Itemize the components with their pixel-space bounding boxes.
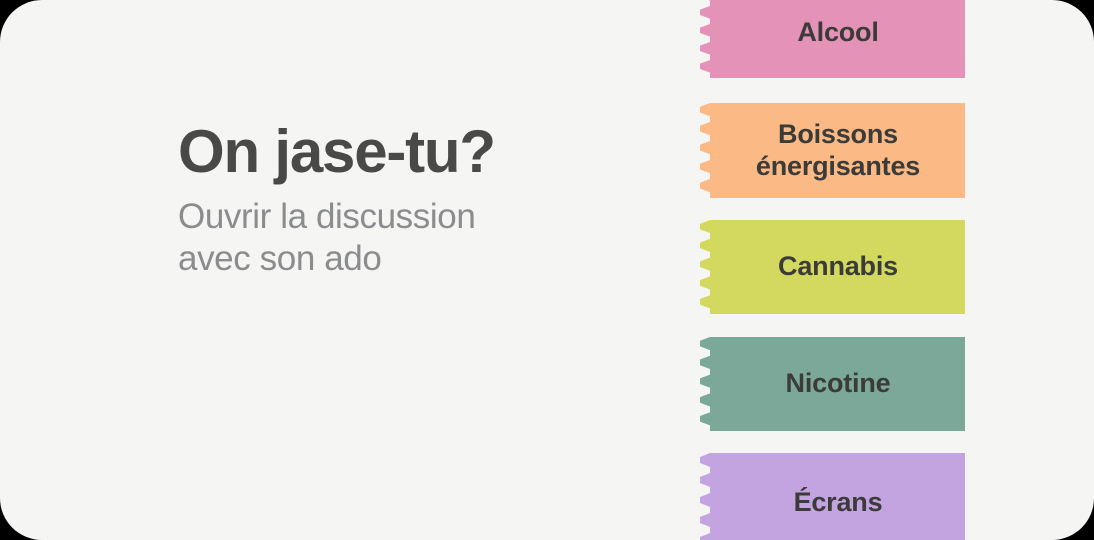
page-subtitle-line-1: Ouvrir la discussion bbox=[178, 196, 658, 238]
page-title: On jase-tu? bbox=[178, 122, 658, 182]
topic-tag-boissons-energisantes[interactable]: Boissons énergisantes bbox=[697, 103, 965, 198]
topic-tag-alcool[interactable]: Alcool bbox=[697, 0, 965, 78]
topic-tag-label: Boissons énergisantes bbox=[756, 119, 920, 183]
headline-block: On jase-tu? Ouvrir la discussion avec so… bbox=[178, 122, 658, 280]
topic-tag-label: Nicotine bbox=[786, 368, 891, 400]
topic-tag-label: Alcool bbox=[797, 17, 878, 49]
topic-tag-ecrans[interactable]: Écrans bbox=[697, 453, 965, 540]
poster-card: On jase-tu? Ouvrir la discussion avec so… bbox=[0, 0, 1094, 540]
topic-tag-label-line-2: énergisantes bbox=[756, 151, 920, 181]
topic-tag-label-line-1: Boissons bbox=[778, 119, 898, 149]
topic-tag-cannabis[interactable]: Cannabis bbox=[697, 220, 965, 314]
topic-tag-list: Alcool Boissons énergisantes Cannabis Ni… bbox=[697, 0, 1094, 540]
page-subtitle: Ouvrir la discussion avec son ado bbox=[178, 196, 658, 280]
page-subtitle-line-2: avec son ado bbox=[178, 238, 658, 280]
topic-tag-label: Cannabis bbox=[778, 251, 898, 283]
topic-tag-label: Écrans bbox=[794, 487, 883, 519]
topic-tag-nicotine[interactable]: Nicotine bbox=[697, 337, 965, 431]
